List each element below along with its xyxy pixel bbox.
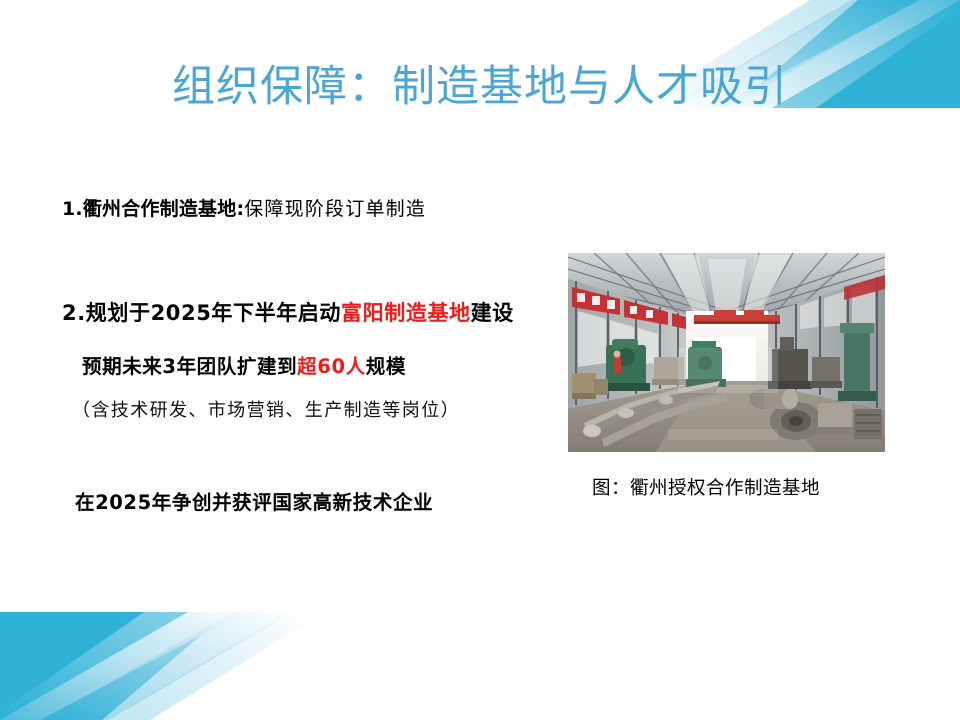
sub-1-highlight: 超60人 (297, 355, 366, 378)
bullet-2-highlight: 富阳制造基地 (341, 301, 471, 325)
bullet-item-2: 2.规划于2025年下半年启动富阳制造基地建设 (62, 297, 514, 327)
sub-line-hightech-goal: 在2025年争创并获评国家高新技术企业 (75, 486, 433, 515)
sub-line-team-expansion: 预期未来3年团队扩建到超60人规模 (82, 350, 406, 379)
sub-line-roles: （含技术研发、市场营销、生产制造等岗位） (72, 396, 460, 422)
bullet-item-1: 1.衢州合作制造基地:保障现阶段订单制造 (62, 194, 426, 221)
factory-workshop-photo (568, 253, 885, 452)
factory-workshop-photo-graphic (568, 253, 885, 452)
bullet-2-part2: 建设 (471, 301, 514, 325)
photo-caption: 图：衢州授权合作制造基地 (592, 474, 820, 500)
bullet-1-tail: 保障现阶段订单制造 (244, 198, 426, 220)
slide-canvas: 组织保障：制造基地与人才吸引 1.衢州合作制造基地:保障现阶段订单制造 2.规划… (0, 0, 960, 720)
bullet-2-part1: 2.规划于2025年下半年启动 (62, 301, 341, 325)
sub-1-part1: 预期未来3年团队扩建到 (82, 355, 297, 378)
bullet-1-lead: 1.衢州合作制造基地: (62, 198, 244, 220)
sub-1-part2: 规模 (366, 355, 406, 378)
